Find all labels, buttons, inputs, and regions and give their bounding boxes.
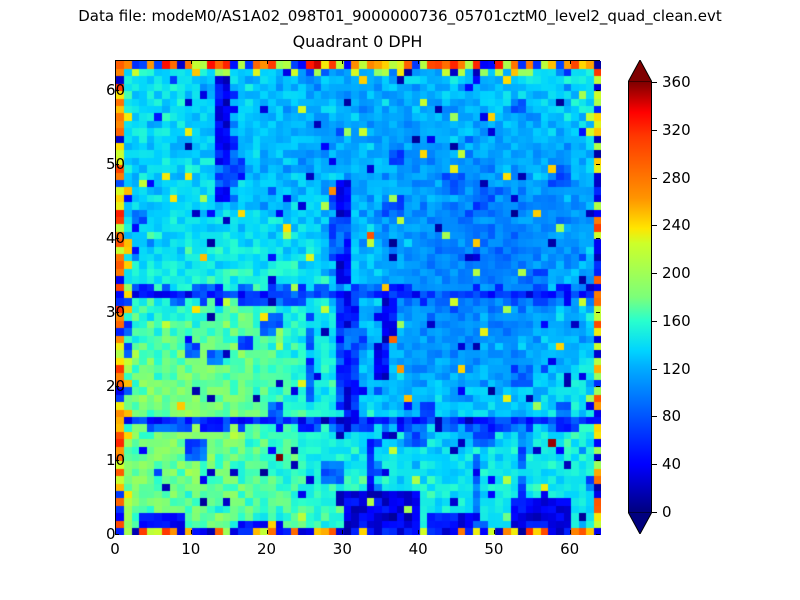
x-axis-tick-label: 30 bbox=[333, 540, 352, 558]
colorbar-tick-mark bbox=[652, 464, 657, 465]
colorbar-tick-label: 240 bbox=[662, 216, 691, 234]
y-tick-mark bbox=[596, 90, 600, 91]
x-axis-tick-label: 60 bbox=[560, 540, 579, 558]
colorbar-tick-mark bbox=[652, 416, 657, 417]
y-tick-mark bbox=[596, 312, 600, 313]
y-tick-mark bbox=[596, 534, 600, 535]
y-tick-mark bbox=[596, 386, 600, 387]
colorbar-tick-mark bbox=[652, 512, 657, 513]
x-tick-mark bbox=[418, 60, 419, 64]
figure-canvas: Data file: modeM0/AS1A02_098T01_90000007… bbox=[0, 0, 800, 600]
x-tick-mark bbox=[267, 60, 268, 64]
colorbar-tick-mark bbox=[652, 321, 657, 322]
x-tick-mark bbox=[570, 60, 571, 64]
colorbar-tick-mark bbox=[652, 82, 657, 83]
x-tick-mark bbox=[267, 530, 268, 534]
colorbar-tick-mark bbox=[652, 369, 657, 370]
colorbar-tick-label: 360 bbox=[662, 73, 691, 91]
colorbar-under-arrow-icon bbox=[628, 512, 652, 534]
x-tick-mark bbox=[494, 530, 495, 534]
colorbar-tick-label: 320 bbox=[662, 121, 691, 139]
colorbar-tick-label: 160 bbox=[662, 312, 691, 330]
colorbar-tick-label: 200 bbox=[662, 264, 691, 282]
colorbar-over-arrow-icon bbox=[628, 60, 652, 82]
colorbar-tick-label: 0 bbox=[662, 503, 672, 521]
colorbar-tick-mark bbox=[652, 225, 657, 226]
x-axis-tick-label: 40 bbox=[409, 540, 428, 558]
colorbar-tick-label: 280 bbox=[662, 169, 691, 187]
colorbar-tick-label: 80 bbox=[662, 407, 681, 425]
page-title: Quadrant 0 DPH bbox=[115, 32, 600, 51]
x-axis-tick-label: 50 bbox=[484, 540, 503, 558]
colorbar-tick-label: 40 bbox=[662, 455, 681, 473]
y-tick-mark bbox=[596, 164, 600, 165]
colorbar-gradient bbox=[628, 82, 652, 512]
colorbar-tick-mark bbox=[652, 273, 657, 274]
y-tick-mark bbox=[115, 534, 119, 535]
x-axis-tick-label: 20 bbox=[257, 540, 276, 558]
x-tick-mark bbox=[342, 530, 343, 534]
x-tick-mark bbox=[191, 60, 192, 64]
x-tick-mark bbox=[418, 530, 419, 534]
colorbar-tick-label: 120 bbox=[662, 360, 691, 378]
x-tick-mark bbox=[342, 60, 343, 64]
x-tick-mark bbox=[494, 60, 495, 64]
y-tick-mark bbox=[596, 238, 600, 239]
data-file-label: Data file: modeM0/AS1A02_098T01_90000007… bbox=[0, 7, 800, 25]
heatmap-axes bbox=[115, 60, 600, 534]
x-tick-mark bbox=[191, 530, 192, 534]
x-axis-tick-label: 10 bbox=[181, 540, 200, 558]
colorbar bbox=[628, 60, 652, 534]
x-tick-mark bbox=[570, 530, 571, 534]
x-tick-mark bbox=[115, 60, 116, 64]
y-tick-mark bbox=[596, 460, 600, 461]
colorbar-tick-mark bbox=[652, 130, 657, 131]
heatmap-image bbox=[116, 61, 601, 535]
colorbar-tick-mark bbox=[652, 178, 657, 179]
